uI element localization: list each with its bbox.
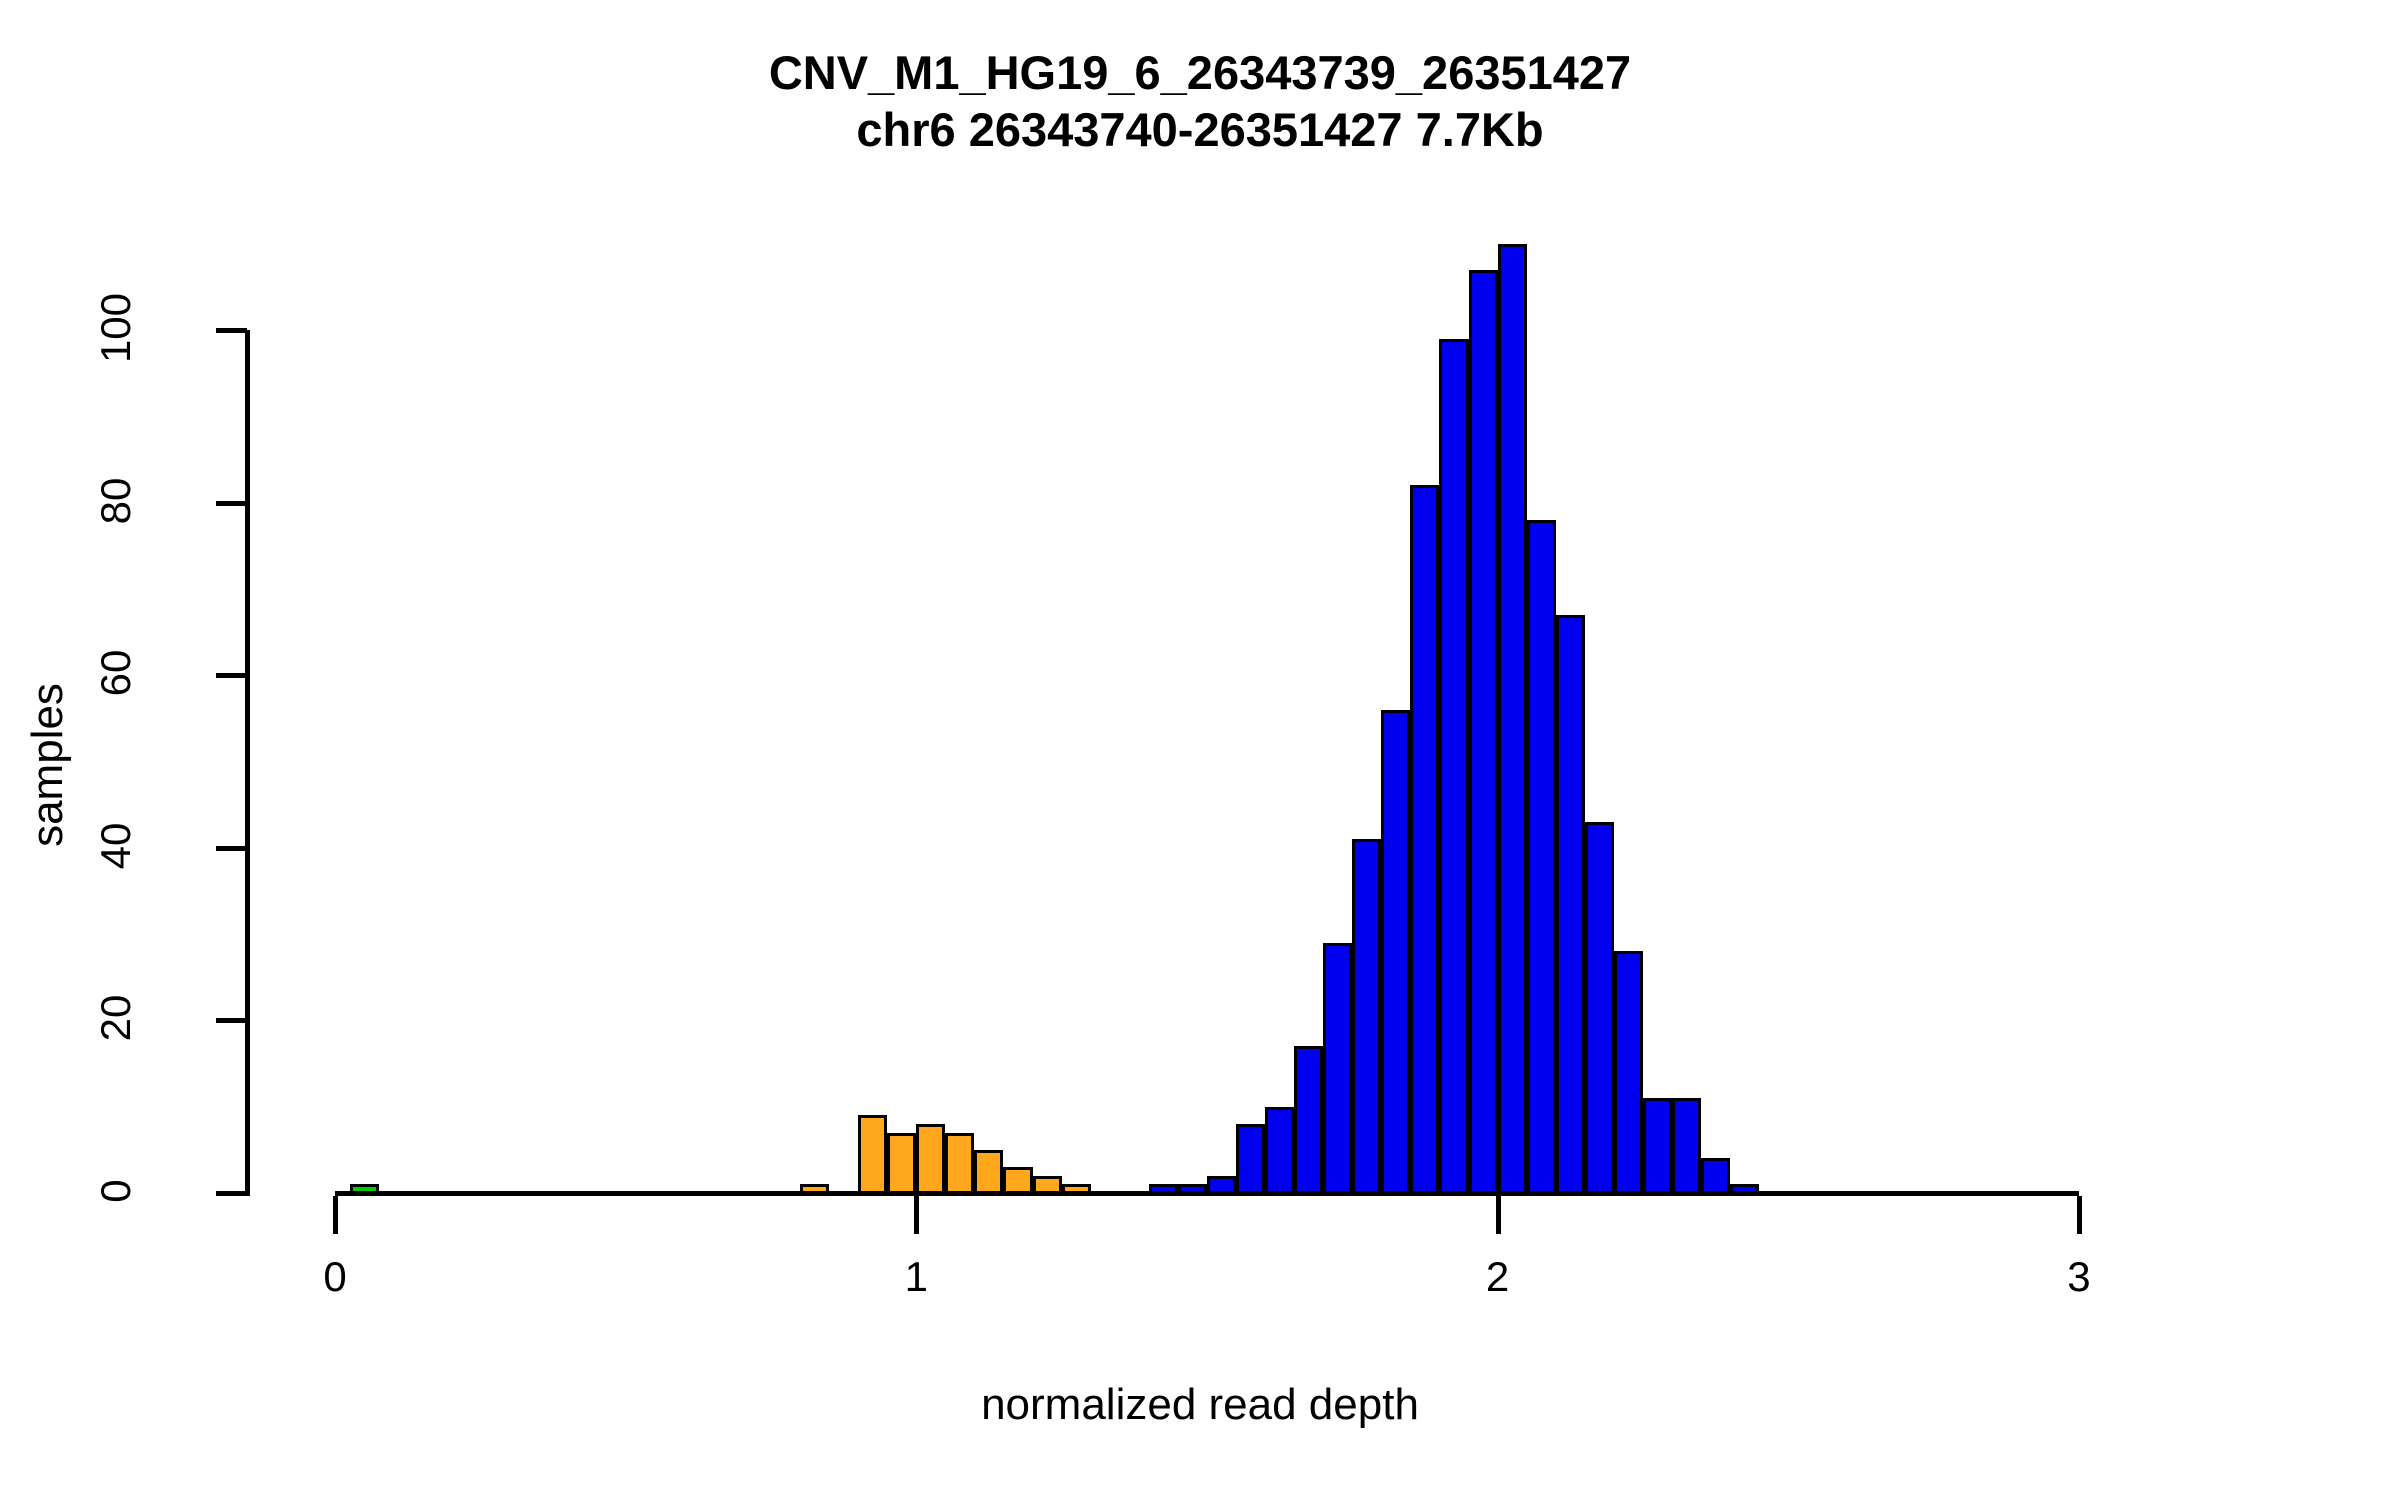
x-axis-tick-label: 3 bbox=[2019, 1253, 2139, 1301]
histogram-bar bbox=[1352, 839, 1381, 1196]
y-axis-tick bbox=[216, 846, 247, 851]
histogram-bar bbox=[1556, 615, 1585, 1196]
y-axis-tick-label: 0 bbox=[92, 1111, 140, 1271]
histogram-bar bbox=[1585, 822, 1614, 1196]
histogram-bar bbox=[945, 1133, 974, 1196]
histogram-bar bbox=[858, 1115, 887, 1196]
histogram-bar bbox=[1265, 1107, 1294, 1196]
chart-canvas: CNV_M1_HG19_6_26343739_26351427 chr6 263… bbox=[0, 0, 2400, 1500]
x-axis-tick-label: 0 bbox=[275, 1253, 395, 1301]
x-axis-tick bbox=[2077, 1196, 2082, 1234]
y-axis-tick bbox=[216, 1191, 247, 1196]
histogram-bar bbox=[1527, 520, 1556, 1196]
y-axis-tick-label: 100 bbox=[92, 248, 140, 408]
y-axis-title: samples bbox=[23, 585, 73, 945]
histogram-bar bbox=[1498, 244, 1527, 1196]
x-axis-title: normalized read depth bbox=[0, 1380, 2400, 1430]
y-axis-tick bbox=[216, 673, 247, 678]
y-axis-tick bbox=[216, 328, 247, 333]
histogram-bar bbox=[1469, 270, 1498, 1196]
plot-area: 020406080100 0123 samples normalized rea… bbox=[0, 0, 2400, 1500]
histogram-bar bbox=[1614, 951, 1643, 1196]
y-axis-tick-label: 20 bbox=[92, 938, 140, 1098]
x-axis-tick-label: 1 bbox=[856, 1253, 976, 1301]
histogram-bar bbox=[887, 1133, 916, 1196]
x-axis-line bbox=[335, 1191, 2079, 1196]
x-axis-tick-label: 2 bbox=[1438, 1253, 1558, 1301]
histogram-bar bbox=[1381, 710, 1410, 1196]
y-axis-tick-label: 80 bbox=[92, 421, 140, 581]
y-axis-tick-label: 60 bbox=[92, 593, 140, 753]
y-axis-tick bbox=[216, 1018, 247, 1023]
histogram-bar bbox=[1236, 1124, 1265, 1196]
x-axis-tick bbox=[333, 1196, 338, 1234]
y-axis-line bbox=[245, 330, 250, 1196]
histogram-bar bbox=[916, 1124, 945, 1196]
histogram-bar bbox=[974, 1150, 1003, 1196]
y-axis-tick-label: 40 bbox=[92, 766, 140, 926]
histogram-bar bbox=[1643, 1098, 1672, 1196]
histogram-bar bbox=[1294, 1046, 1323, 1196]
x-axis-tick bbox=[1496, 1196, 1501, 1234]
histogram-bar bbox=[1410, 485, 1439, 1196]
histogram-bar bbox=[1672, 1098, 1701, 1196]
x-axis-tick bbox=[914, 1196, 919, 1234]
y-axis-tick bbox=[216, 501, 247, 506]
histogram-bar bbox=[1439, 339, 1468, 1196]
histogram-bar bbox=[1323, 943, 1352, 1196]
